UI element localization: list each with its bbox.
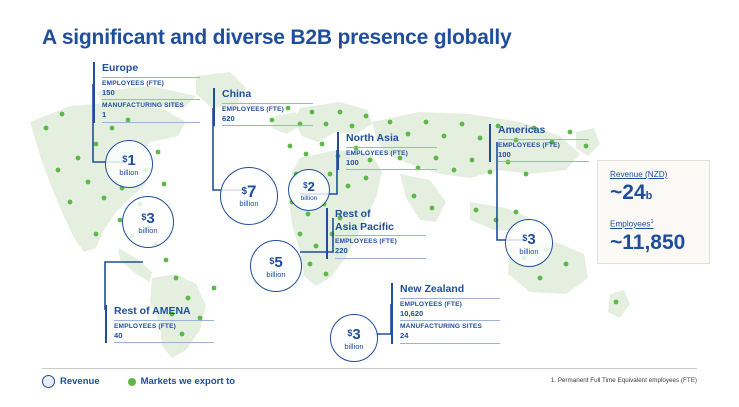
callout-china[interactable]: China EMPLOYEES (FTE) 620 (213, 88, 313, 126)
legend: Revenue Markets we export to (42, 375, 235, 388)
summary-revenue-block: Revenue (NZD) ~24b (610, 170, 709, 208)
callout-row-employees: EMPLOYEES (FTE) 620 (222, 104, 313, 127)
bubble-amount: $3 (141, 210, 154, 226)
bubble-amount: $7 (241, 184, 256, 199)
callout-title-line1: Rest of (335, 208, 371, 220)
bubble-unit: billion (344, 342, 363, 351)
callout-americas[interactable]: Americas EMPLOYEES (FTE) 100 (489, 124, 589, 162)
metric-label: EMPLOYEES (FTE) (102, 80, 200, 88)
metric-value: 24 (400, 331, 500, 341)
summary-employees-block: Employees1 ~11,850 (610, 217, 709, 254)
bubble-unit: billion (239, 199, 258, 208)
callout-europe[interactable]: Europe EMPLOYEES (FTE) 150 MANUFACTURING… (93, 62, 200, 123)
revenue-bubble-rest-of-asia-pacific[interactable]: $5 billion (250, 240, 302, 292)
metric-value: 620 (222, 114, 313, 124)
bubble-unit: billion (119, 168, 138, 177)
summary-panel: Revenue (NZD) ~24b Employees1 ~11,850 (597, 160, 710, 264)
callout-row-employees: EMPLOYEES (FTE) 40 (114, 321, 214, 344)
amount-value: 3 (146, 210, 154, 227)
metric-label: EMPLOYEES (FTE) (400, 301, 500, 309)
legend-divider (42, 368, 697, 369)
bubble-amount: $3 (522, 231, 535, 247)
callout-row-manufacturing: MANUFACTURING SITES 1 (102, 100, 200, 123)
metric-value: 100 (346, 158, 437, 168)
summary-employees-label: Employees1 (610, 217, 709, 230)
revenue-bubble-rest-of-amena[interactable]: $3 billion (122, 196, 174, 248)
metric-value: 220 (335, 246, 426, 256)
metric-value: 1 (102, 110, 200, 120)
revenue-bubble-new-zealand[interactable]: $3 billion (330, 314, 378, 362)
amount-value: 1 (127, 152, 135, 169)
callout-new-zealand[interactable]: New Zealand EMPLOYEES (FTE) 10,620 MANUF… (391, 283, 500, 344)
amount-value: 5 (274, 254, 282, 271)
bubble-amount: $1 (122, 152, 135, 168)
callout-title: North Asia (346, 132, 437, 148)
summary-employees-value: ~11,850 (610, 231, 709, 254)
metric-label: EMPLOYEES (FTE) (222, 106, 313, 114)
bubble-amount: $3 (347, 326, 360, 342)
bubble-amount: $5 (269, 254, 282, 270)
bubble-amount: $2 (303, 178, 315, 194)
callout-title: Rest of AMENA (114, 305, 214, 321)
callout-rest-of-asia-pacific[interactable]: Rest of Asia Pacific EMPLOYEES (FTE) 220 (326, 208, 426, 259)
bubble-unit: billion (138, 226, 157, 235)
callout-row-employees: EMPLOYEES (FTE) 100 (498, 140, 589, 163)
revenue-bubble-europe[interactable]: $1 billion (105, 140, 153, 188)
callout-rest-of-amena[interactable]: Rest of AMENA EMPLOYEES (FTE) 40 (105, 305, 214, 343)
revenue-bubble-china[interactable]: $7 billion (220, 167, 278, 225)
callout-row-employees: EMPLOYEES (FTE) 220 (335, 236, 426, 259)
page-title: A significant and diverse B2B presence g… (42, 26, 511, 50)
metric-label: EMPLOYEES (FTE) (346, 150, 437, 158)
bubble-unit: billion (301, 194, 318, 203)
callout-title-line2: Asia Pacific (335, 221, 394, 233)
callout-row-employees: EMPLOYEES (FTE) 100 (346, 148, 437, 171)
green-dot-icon (128, 378, 136, 386)
summary-revenue-label: Revenue (NZD) (610, 170, 709, 180)
revenue-bubble-north-asia[interactable]: $2 billion (288, 169, 330, 211)
metric-label: EMPLOYEES (FTE) (498, 142, 589, 150)
callout-north-asia[interactable]: North Asia EMPLOYEES (FTE) 100 (337, 132, 437, 170)
metric-label: MANUFACTURING SITES (400, 323, 500, 331)
callout-row-employees: EMPLOYEES (FTE) 10,620 (400, 299, 500, 322)
metric-value: 100 (498, 150, 589, 160)
bubble-unit: billion (266, 270, 285, 279)
metric-label: EMPLOYEES (FTE) (114, 323, 214, 331)
metric-value: 10,620 (400, 309, 500, 319)
legend-item-export-markets: Markets we export to (128, 376, 236, 387)
legend-label: Markets we export to (141, 376, 236, 387)
summary-revenue-value: ~24b (610, 181, 709, 208)
circle-outline-icon (42, 375, 55, 388)
metric-value: 150 (102, 88, 200, 98)
bubble-unit: billion (519, 247, 538, 256)
callout-title: New Zealand (400, 283, 500, 299)
legend-item-revenue: Revenue (42, 375, 100, 388)
amount-value: 3 (352, 326, 360, 343)
callout-row-employees: EMPLOYEES (FTE) 150 (102, 78, 200, 101)
metric-label: MANUFACTURING SITES (102, 102, 200, 110)
legend-label: Revenue (60, 376, 100, 387)
amount-value: 3 (527, 231, 535, 248)
metric-value: 40 (114, 331, 214, 341)
footnote-marker: 1 (651, 219, 654, 225)
footnote: 1. Permanent Full Time Equivalent employ… (551, 377, 697, 384)
callout-title: China (222, 88, 313, 104)
callout-title: Europe (102, 62, 200, 78)
revenue-bubble-americas[interactable]: $3 billion (505, 219, 553, 267)
metric-label: EMPLOYEES (FTE) (335, 238, 426, 246)
callout-title: Rest of Asia Pacific (335, 208, 426, 236)
amount-value: 2 (308, 179, 315, 194)
callout-row-manufacturing: MANUFACTURING SITES 24 (400, 321, 500, 344)
callout-title: Americas (498, 124, 589, 140)
